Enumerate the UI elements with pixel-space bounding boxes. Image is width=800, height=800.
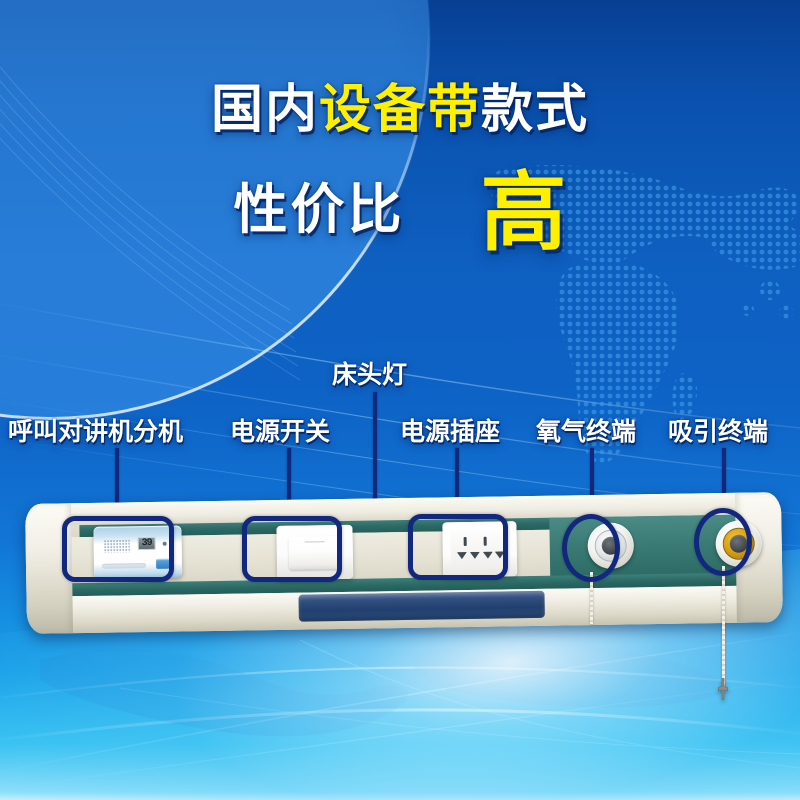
callout-label-power-switch: 电源开关	[230, 412, 330, 448]
poster-canvas: 国内设备带款式 性价比高 呼叫对讲机分机 电源开关 床头灯 电源插座 氧气终端 …	[0, 0, 800, 800]
callout-label-oxygen-terminal: 氧气终端	[536, 412, 636, 448]
bed-lamp-diffuser[interactable]	[298, 591, 544, 622]
highlight-box-power-switch	[242, 516, 342, 582]
highlight-ellipse-suction-terminal	[694, 508, 752, 576]
callout-label-bed-lamp: 床头灯	[332, 355, 407, 391]
callout-label-power-socket: 电源插座	[400, 412, 500, 448]
callout-label-suction-terminal: 吸引终端	[668, 412, 768, 448]
suction-pull-cord	[722, 566, 725, 688]
callout-label-nurse-call-intercom: 呼叫对讲机分机	[8, 412, 183, 448]
highlight-box-power-socket	[408, 514, 508, 580]
highlight-ellipse-oxygen-terminal	[562, 514, 620, 582]
highlight-box-nurse-call-intercom	[62, 516, 174, 582]
pull-cord-weight-icon[interactable]	[712, 678, 734, 700]
